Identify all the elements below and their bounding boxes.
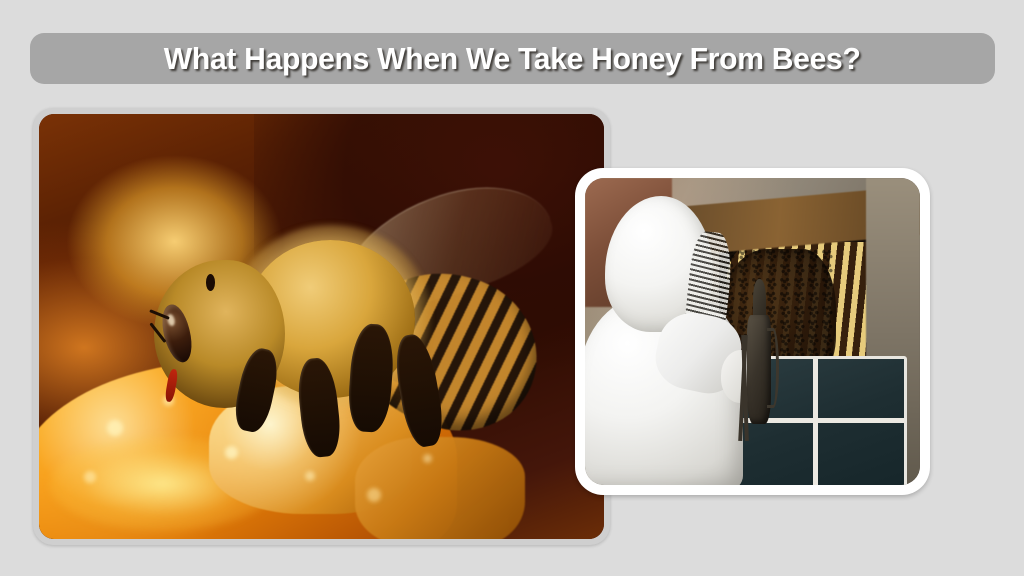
bee-ocellus [206,274,215,290]
honeybee-subject [146,220,530,467]
title-bar: What Happens When We Take Honey From Bee… [30,33,995,84]
bee-compound-eye [158,302,198,366]
honeybee-photo-canvas [39,114,604,539]
beekeeper-figure [585,196,766,485]
beekeeper-photo [575,168,930,495]
beekeeper-photo-canvas [585,178,920,485]
bokeh-dot [305,471,315,481]
page-title: What Happens When We Take Honey From Bee… [164,41,861,77]
bee-smoker-tool [743,279,777,444]
slide-root: What Happens When We Take Honey From Bee… [0,0,1024,576]
honeybee-macro-photo [33,108,610,545]
bee-proboscis [164,369,179,403]
bokeh-dot [107,420,123,436]
bokeh-dot [367,488,381,502]
smoker-handle [767,328,778,407]
